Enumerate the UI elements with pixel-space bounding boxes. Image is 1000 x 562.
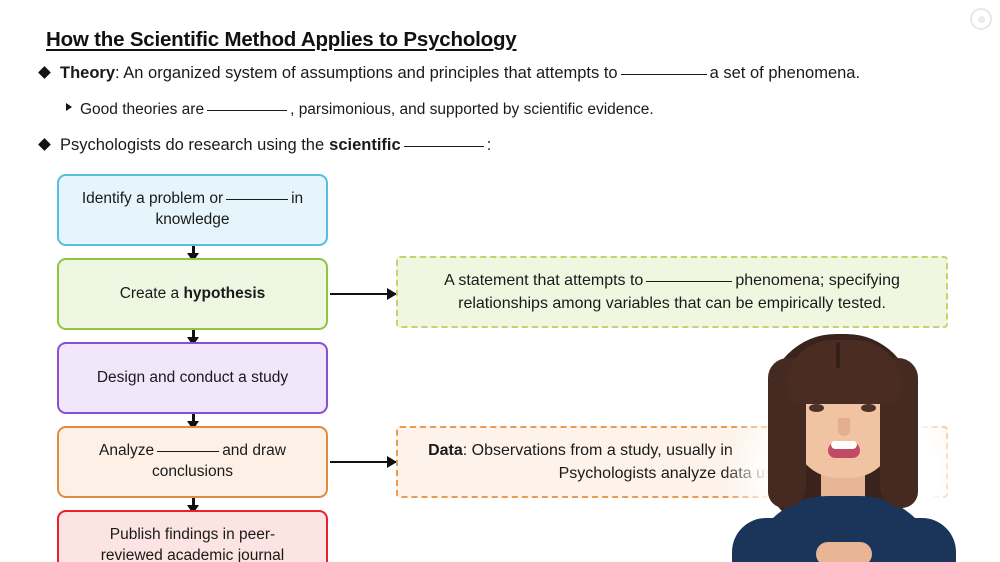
diamond-bullet-icon [38, 66, 51, 79]
arrow-right-icon [330, 456, 396, 468]
flow-step-label: Create a hypothesis [120, 284, 266, 305]
bullet-psychologists-research: Psychologists do research using the scie… [40, 136, 491, 155]
callout-hypothesis-definition: A statement that attempts tophenomena; s… [396, 256, 948, 328]
blank-line [621, 74, 707, 75]
bullet-psych-start: Psychologists do research using the [60, 136, 324, 155]
flow-step-label: Analyzeand draw conclusions [99, 441, 286, 483]
presenter-shoulder-left [732, 518, 798, 562]
flow-step-identify-problem[interactable]: Identify a problem orin knowledge [57, 174, 328, 246]
blank-line [226, 199, 288, 200]
presenter-torso [748, 496, 940, 562]
callout-text: A statement that attempts tophenomena; s… [444, 269, 900, 315]
bullet-theory: Theory : An organized system of assumpti… [40, 64, 860, 83]
presenter-eyebrow-right [856, 393, 880, 399]
slide-canvas: How the Scientific Method Applies to Psy… [0, 0, 1000, 562]
presenter-shoulder-right [890, 518, 956, 562]
presenter-eyebrow-left [804, 393, 828, 399]
bullet-theory-term: Theory [60, 64, 115, 83]
diamond-bullet-icon [38, 138, 51, 151]
flow-step-design-conduct-study[interactable]: Design and conduct a study [57, 342, 328, 414]
triangle-bullet-icon [66, 103, 72, 111]
flow-step-create-hypothesis[interactable]: Create a hypothesis [57, 258, 328, 330]
flow-step-label: Publish findings in peer- reviewed acade… [101, 525, 285, 562]
flow-step-publish-findings[interactable]: Publish findings in peer- reviewed acade… [57, 510, 328, 562]
bullet-theory-text-end: a set of phenomena. [710, 64, 860, 83]
bullet-good-theories: Good theories are , parsimonious, and su… [66, 101, 654, 119]
presenter-eye-left [809, 404, 824, 412]
blank-line [404, 146, 484, 147]
circle-watermark-icon [970, 8, 992, 30]
circle-watermark-dot [978, 16, 985, 23]
blank-line [646, 281, 732, 282]
bullet-psych-bold: scientific [329, 136, 401, 155]
presenter-eye-right [861, 404, 876, 412]
presenter-hair-part [836, 342, 840, 368]
presenter-hands [816, 542, 872, 562]
flow-step-label: Identify a problem orin knowledge [82, 189, 303, 231]
bullet-theory-text: : An organized system of assumptions and… [115, 64, 618, 83]
bullet-psych-end: : [487, 136, 492, 155]
flow-step-label: Design and conduct a study [97, 368, 288, 389]
presenter-hair-top [787, 340, 901, 404]
blank-line [207, 110, 287, 111]
blank-line [157, 451, 219, 452]
bullet-good-theories-start: Good theories are [80, 101, 204, 119]
callout-text: Data: Observations from a study, usually… [428, 439, 916, 485]
callout-data-definition: Data: Observations from a study, usually… [396, 426, 948, 498]
arrow-right-icon [330, 288, 396, 300]
flow-step-analyze-conclusions[interactable]: Analyzeand draw conclusions [57, 426, 328, 498]
bullet-good-theories-end: , parsimonious, and supported by scienti… [290, 101, 654, 119]
page-title: How the Scientific Method Applies to Psy… [46, 28, 517, 52]
